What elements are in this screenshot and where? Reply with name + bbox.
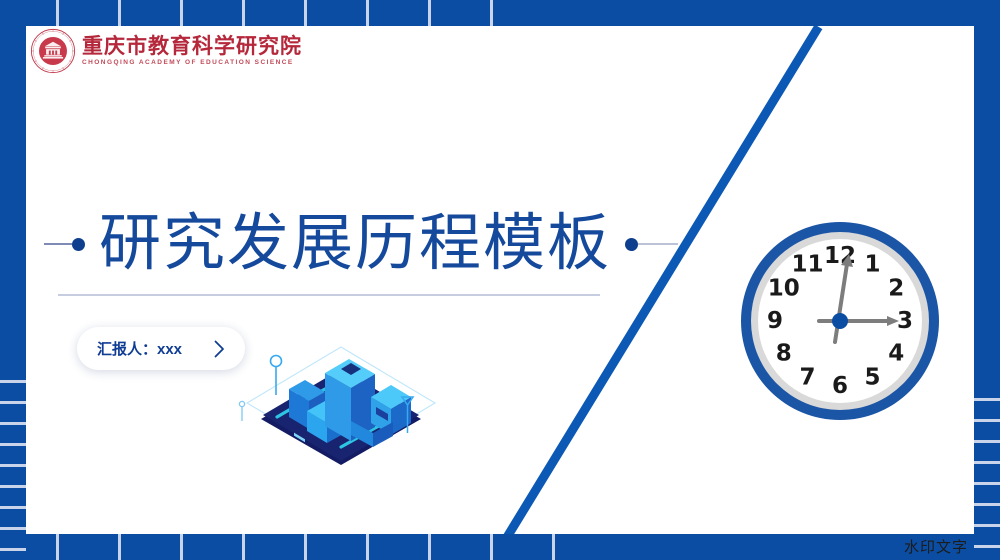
frame-tick-left-0: [0, 380, 26, 383]
frame-tick-top-4: [304, 0, 307, 26]
slide-canvas: 重庆市教育科学研究院 CHONGQING ACADEMY OF EDUCATIO…: [0, 0, 1000, 560]
frame-tick-left-8: [0, 548, 26, 551]
frame-tick-bottom-5: [366, 534, 369, 560]
clock-number-9: 9: [767, 308, 783, 334]
clock-number-11: 11: [791, 252, 823, 278]
frame-tick-left-3: [0, 443, 26, 446]
clock-number-6: 6: [832, 373, 848, 399]
frame-tick-bottom-8: [552, 534, 555, 560]
chevron-right-icon: [214, 340, 225, 358]
frame-tick-bottom-4: [304, 534, 307, 560]
frame-tick-top-1: [118, 0, 121, 26]
clock-number-7: 7: [799, 364, 815, 390]
organization-logo: 重庆市教育科学研究院 CHONGQING ACADEMY OF EDUCATIO…: [30, 28, 302, 74]
frame-tick-left-2: [0, 422, 26, 425]
frame-border-top: [0, 0, 1000, 26]
frame-tick-left-6: [0, 506, 26, 509]
clock-number-8: 8: [776, 341, 792, 367]
frame-tick-left-4: [0, 464, 26, 467]
presenter-button[interactable]: 汇报人：xxx: [77, 327, 245, 370]
frame-tick-top-3: [242, 0, 245, 26]
clock-number-3: 3: [897, 308, 913, 334]
clock-number-10: 10: [768, 276, 800, 302]
frame-tick-bottom-7: [490, 534, 493, 560]
clock-number-4: 4: [888, 341, 904, 367]
frame-tick-left-1: [0, 401, 26, 404]
frame-tick-top-0: [56, 0, 59, 26]
slide-title-row: 研究发展历程模板: [44, 200, 678, 288]
title-deco-line-right: [638, 243, 678, 245]
frame-tick-bottom-0: [56, 534, 59, 560]
frame-border-left: [0, 0, 26, 560]
title-deco-dot-right: [625, 238, 638, 251]
logo-chinese-name: 重庆市教育科学研究院: [82, 35, 302, 56]
frame-tick-bottom-1: [118, 534, 121, 560]
presenter-label: 汇报人：xxx: [97, 338, 182, 359]
title-deco-line-left: [44, 243, 72, 245]
frame-tick-right-7: [974, 545, 1000, 548]
clock-number-2: 2: [888, 276, 904, 302]
frame-tick-right-6: [974, 524, 1000, 527]
frame-tick-left-7: [0, 527, 26, 530]
clock-number-5: 5: [864, 364, 880, 390]
frame-tick-top-5: [366, 0, 369, 26]
frame-tick-left-5: [0, 485, 26, 488]
frame-border-bottom: [0, 534, 1000, 560]
frame-tick-bottom-2: [180, 534, 183, 560]
map-pin-marker: [271, 356, 282, 396]
academy-seal-icon: [30, 28, 76, 74]
page-title: 研究发展历程模板: [85, 213, 625, 275]
frame-border-right: [974, 0, 1000, 560]
clock-center-hub: [832, 313, 848, 329]
isometric-smart-city-illustration: [233, 325, 449, 477]
frame-tick-right-2: [974, 440, 1000, 443]
title-deco-dot-left: [72, 238, 85, 251]
frame-tick-right-0: [974, 398, 1000, 401]
frame-tick-right-3: [974, 461, 1000, 464]
clock-number-1: 1: [864, 252, 880, 278]
small-pin-marker: [239, 401, 244, 421]
building-center-tall: [325, 359, 375, 441]
logo-english-name: CHONGQING ACADEMY OF EDUCATION SCIENCE: [82, 60, 302, 67]
frame-tick-top-2: [180, 0, 183, 26]
wall-clock: 121234567891011: [737, 218, 943, 424]
frame-tick-bottom-3: [242, 534, 245, 560]
frame-tick-right-5: [974, 503, 1000, 506]
watermark-text: 水印文字: [904, 536, 968, 557]
frame-tick-top-7: [490, 0, 493, 26]
title-underline-divider: [58, 294, 600, 296]
frame-tick-right-4: [974, 482, 1000, 485]
frame-tick-top-6: [428, 0, 431, 26]
frame-tick-right-1: [974, 419, 1000, 422]
frame-tick-bottom-6: [428, 534, 431, 560]
